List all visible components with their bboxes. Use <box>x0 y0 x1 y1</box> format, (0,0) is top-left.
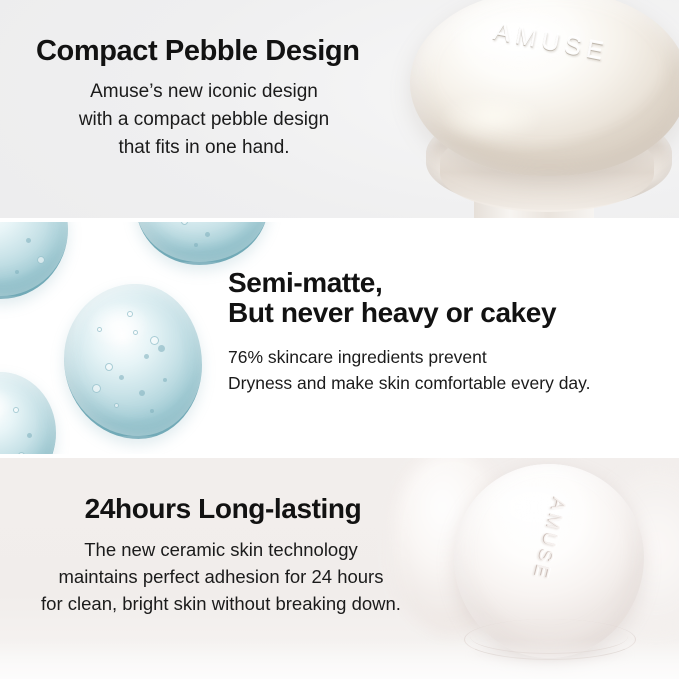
panel-1-body-line-3: that fits in one hand. <box>30 134 378 162</box>
gel-blob-sheen <box>86 302 149 348</box>
product-compact-lid-image: AMUSE <box>404 0 679 218</box>
panel-3-headline: 24hours Long-lasting <box>14 494 428 524</box>
gel-bubble <box>92 384 101 393</box>
gel-bubble <box>26 238 31 243</box>
panel-1-body: Amuse’s new iconic design with a compact… <box>30 78 380 161</box>
gel-bubble <box>27 433 32 438</box>
gel-bubble <box>150 336 159 345</box>
gel-blob-center <box>64 284 202 439</box>
gel-bubble <box>15 270 19 274</box>
gel-bubble <box>205 232 210 237</box>
panel-1-body-line-1: Amuse’s new iconic design <box>30 78 378 106</box>
gel-bubble <box>105 363 113 371</box>
lid-secondary-highlight-icon <box>440 94 544 140</box>
gel-bubble <box>194 243 198 247</box>
gel-bubble <box>139 390 145 396</box>
panel-1-headline: Compact Pebble Design <box>30 36 380 67</box>
gel-bubble <box>163 378 167 382</box>
panel-1-body-line-2: with a compact pebble design <box>30 106 378 134</box>
gel-blob-top-left <box>0 222 68 299</box>
gel-bubble <box>37 256 45 264</box>
gel-bubble <box>114 403 119 408</box>
gel-bubble <box>97 327 102 332</box>
panel-2-body-line-2: Dryness and make skin comfortable every … <box>228 371 668 397</box>
table-surface <box>0 639 679 679</box>
panel-semi-matte: Semi-matte, But never heavy or cakey 76%… <box>0 222 679 454</box>
gel-blob-sheen <box>0 386 13 421</box>
panel-2-copy-block: Semi-matte, But never heavy or cakey 76%… <box>228 268 668 397</box>
panel-24hours-long-lasting: AMUSE 24hours Long-lasting The new ceram… <box>0 458 679 679</box>
panel-3-body-line-1: The new ceramic skin technology <box>14 536 428 563</box>
panel-2-headline: Semi-matte, But never heavy or cakey <box>228 268 668 328</box>
gel-bubble <box>119 375 124 380</box>
gel-bubble <box>144 354 149 359</box>
gel-bubble <box>13 407 19 413</box>
gel-bubble <box>181 222 188 225</box>
gel-bubble <box>133 330 138 335</box>
panel-1-copy-block: Compact Pebble Design Amuse’s new iconic… <box>30 36 380 162</box>
gel-bubble <box>150 409 154 413</box>
panel-2-headline-line-2: But never heavy or cakey <box>228 298 668 328</box>
panel-compact-pebble-design: AMUSE Compact Pebble Design Amuse’s new … <box>0 0 679 218</box>
panel-2-body: 76% skincare ingredients prevent Dryness… <box>228 345 668 396</box>
panel-2-headline-line-1: Semi-matte, <box>228 268 668 298</box>
panel-3-body: The new ceramic skin technology maintain… <box>14 536 428 617</box>
gel-blob-top-center <box>136 222 268 265</box>
panel-2-body-line-1: 76% skincare ingredients prevent <box>228 345 668 371</box>
gel-bubble <box>158 345 165 352</box>
panel-3-copy-block: 24hours Long-lasting The new ceramic ski… <box>14 494 428 617</box>
panel-3-body-line-3: for clean, bright skin without breaking … <box>14 590 428 617</box>
gel-blob-bottom-left <box>0 372 56 454</box>
product-detail-image: AMUSE Compact Pebble Design Amuse’s new … <box>0 0 679 679</box>
product-compact-standing-image: AMUSE <box>454 464 644 662</box>
panel-3-body-line-2: maintains perfect adhesion for 24 hours <box>14 563 428 590</box>
